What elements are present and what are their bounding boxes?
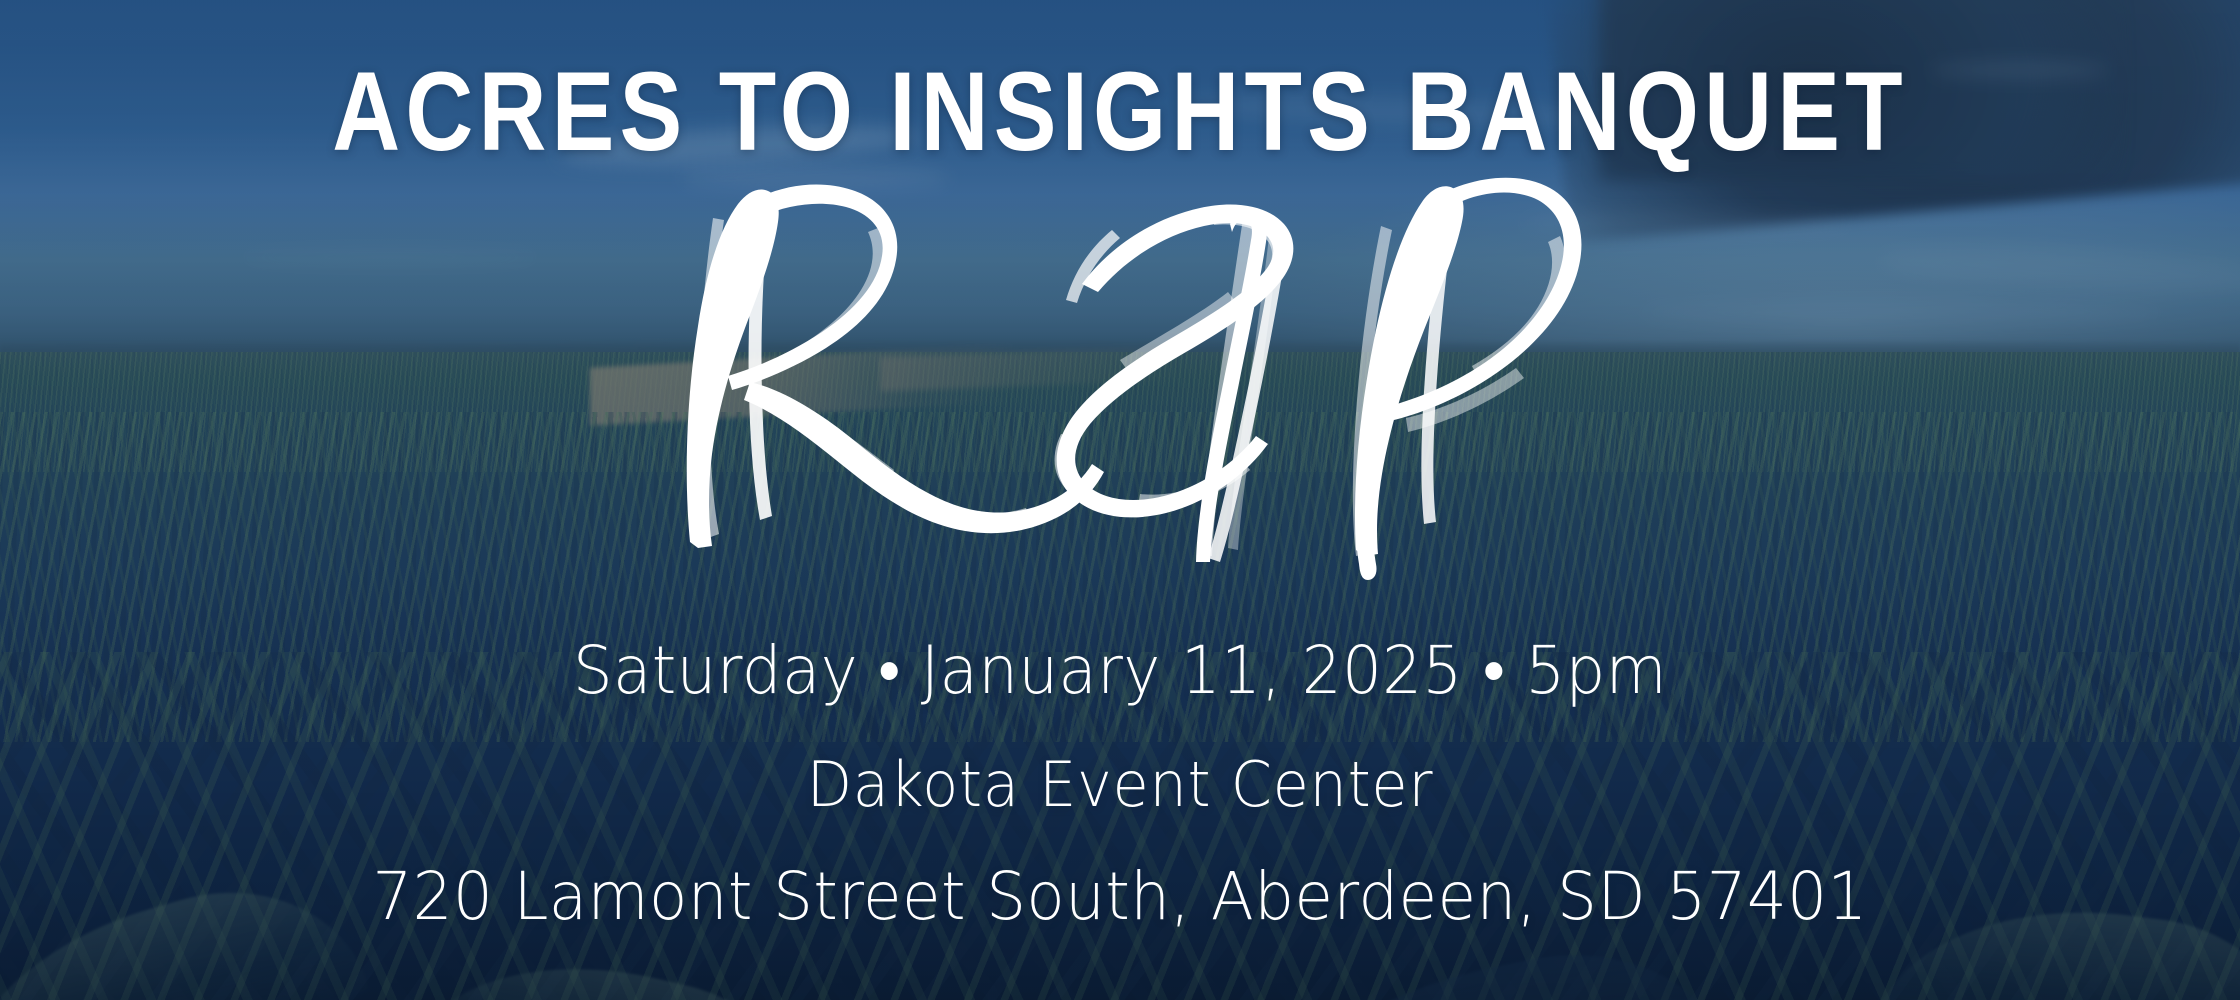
rsvp-banner: ACRES TO INSIGHTS BANQUET bbox=[0, 0, 2240, 1000]
banner-content: ACRES TO INSIGHTS BANQUET bbox=[0, 0, 2240, 1000]
event-venue: Dakota Event Center bbox=[56, 748, 2184, 821]
event-address: 720 Lamont Street South, Aberdeen, SD 57… bbox=[56, 858, 2184, 935]
rsvp-script-lettering bbox=[620, 150, 1620, 580]
event-date-time: Saturday • January 11, 2025 • 5pm bbox=[56, 632, 2184, 709]
